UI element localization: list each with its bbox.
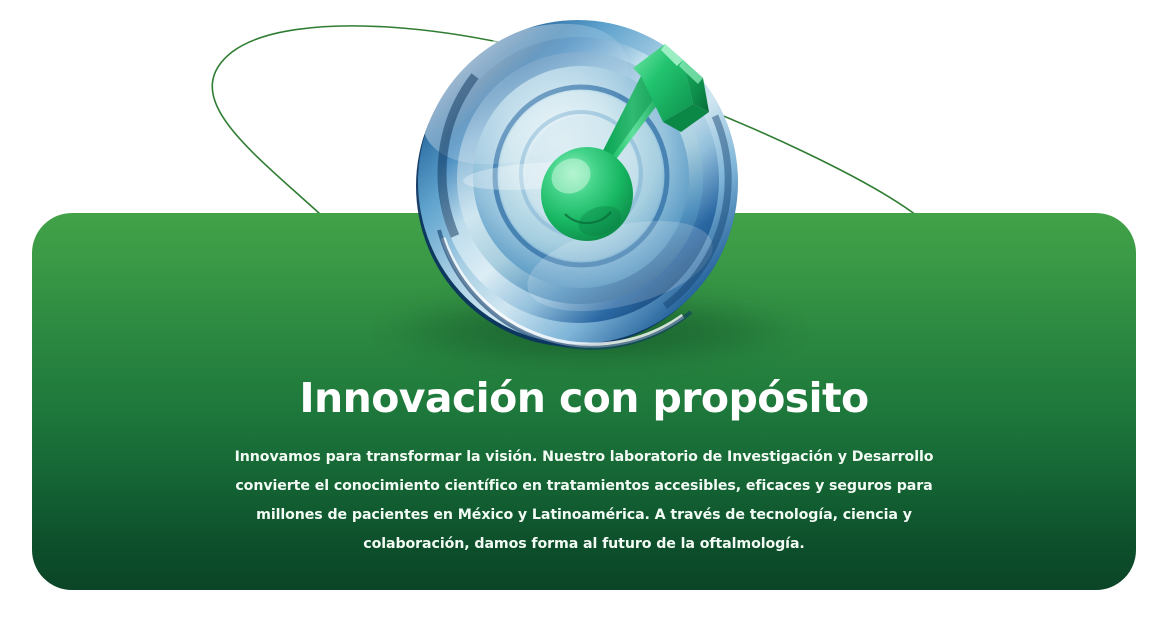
hero-card-content: Innovación con propósito Innovamos para … (32, 213, 1136, 560)
hero-section: Innovación con propósito Innovamos para … (0, 0, 1168, 618)
hero-description: Innovamos para transformar la visión. Nu… (219, 443, 949, 559)
dart-icon (541, 44, 709, 241)
hero-card: Innovación con propósito Innovamos para … (32, 213, 1136, 590)
page-title: Innovación con propósito (32, 376, 1136, 421)
orbit-curve-icon (212, 26, 916, 215)
